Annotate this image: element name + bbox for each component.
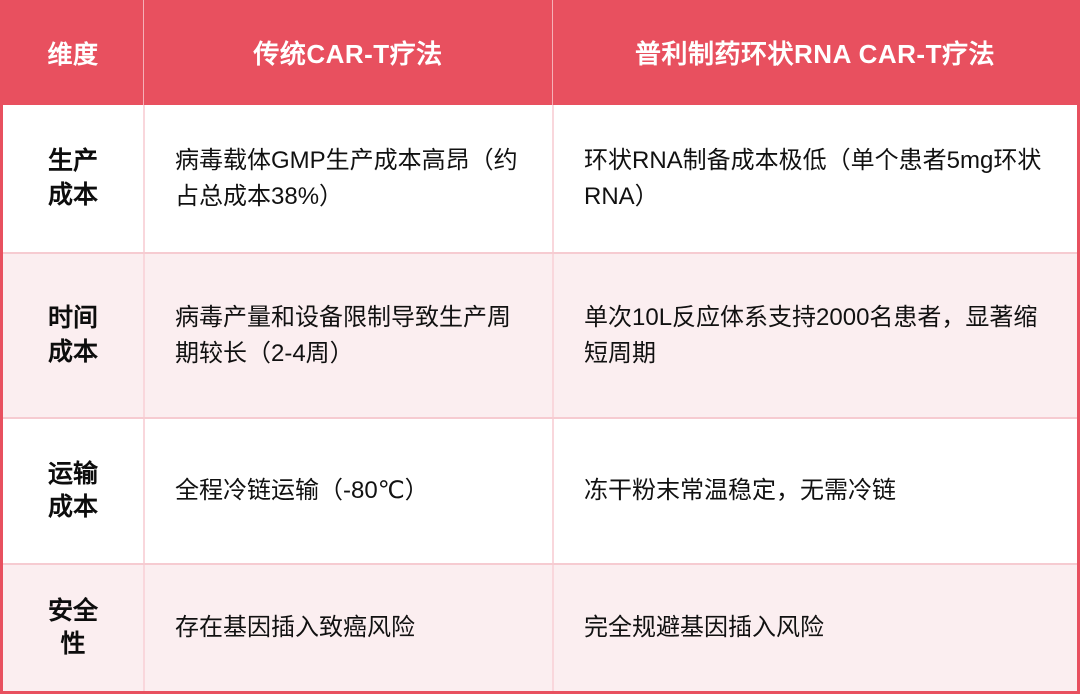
row-dimension-line2: 成本 (48, 336, 98, 370)
table-row: 运输 成本 全程冷链运输（-80℃） 冻干粉末常温稳定，无需冷链 (3, 417, 1077, 563)
row-dimension-line1: 运输 (48, 458, 98, 492)
row-dimension-line2: 成本 (48, 179, 98, 213)
row-traditional-cell: 病毒载体GMP生产成本高昂（约占总成本38%） (143, 105, 552, 252)
row-dimension-line2: 性 (48, 628, 98, 662)
row-dimension-cell: 生产 成本 (3, 105, 143, 252)
column-header-traditional: 传统CAR-T疗法 (143, 0, 552, 105)
row-dimension-line1: 时间 (48, 302, 98, 336)
table-row: 时间 成本 病毒产量和设备限制导致生产周期较长（2-4周） 单次10L反应体系支… (3, 252, 1077, 417)
row-dimension-cell: 安全 性 (3, 565, 143, 691)
row-dimension-line1: 生产 (48, 145, 98, 179)
row-dimension-cell: 时间 成本 (3, 254, 143, 417)
table-row: 生产 成本 病毒载体GMP生产成本高昂（约占总成本38%） 环状RNA制备成本极… (3, 105, 1077, 252)
column-header-traditional-label: 传统CAR-T疗法 (253, 34, 442, 71)
row-circular-rna-cell: 单次10L反应体系支持2000名患者，显著缩短周期 (552, 254, 1077, 417)
table-row: 安全 性 存在基因插入致癌风险 完全规避基因插入风险 (3, 563, 1077, 691)
row-circular-rna-cell: 完全规避基因插入风险 (552, 565, 1077, 691)
column-header-dimension: 维度 (3, 0, 143, 105)
table-header-row: 维度 传统CAR-T疗法 普利制药环状RNA CAR-T疗法 (3, 0, 1077, 105)
row-dimension-cell: 运输 成本 (3, 419, 143, 563)
column-header-circular-rna-label: 普利制药环状RNA CAR-T疗法 (635, 34, 995, 71)
table-body: 生产 成本 病毒载体GMP生产成本高昂（约占总成本38%） 环状RNA制备成本极… (3, 105, 1077, 691)
column-header-dimension-label: 维度 (47, 35, 98, 71)
row-dimension-line1: 安全 (48, 595, 98, 629)
row-traditional-cell: 存在基因插入致癌风险 (143, 565, 552, 691)
row-traditional-cell: 全程冷链运输（-80℃） (143, 419, 552, 563)
row-dimension-line2: 成本 (48, 491, 98, 525)
row-circular-rna-cell: 冻干粉末常温稳定，无需冷链 (552, 419, 1077, 563)
column-header-circular-rna: 普利制药环状RNA CAR-T疗法 (552, 0, 1077, 105)
comparison-table: 维度 传统CAR-T疗法 普利制药环状RNA CAR-T疗法 生产 成本 病毒载… (0, 0, 1080, 694)
row-traditional-cell: 病毒产量和设备限制导致生产周期较长（2-4周） (143, 254, 552, 417)
row-circular-rna-cell: 环状RNA制备成本极低（单个患者5mg环状RNA） (552, 105, 1077, 252)
